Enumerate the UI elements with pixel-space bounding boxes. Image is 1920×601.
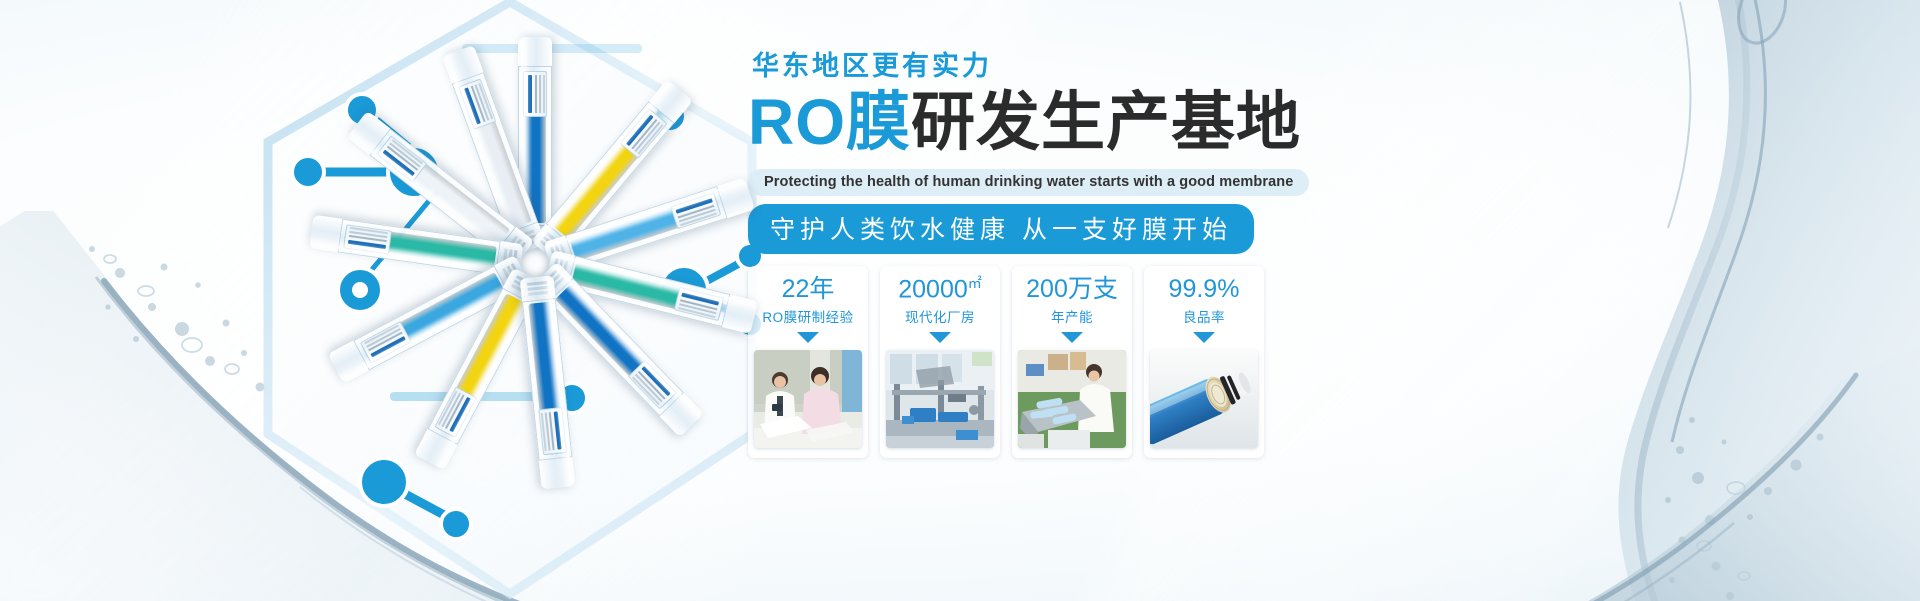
triangle-down-icon <box>929 332 951 343</box>
stat-value: 22年 <box>782 276 835 302</box>
kicker-text: 华东地区更有实力 <box>748 52 1758 82</box>
headline-rest: 研发生产基地 <box>911 86 1301 158</box>
stat-card[interactable]: 200万支年产能 <box>1012 266 1132 459</box>
membrane-element-photo <box>1150 350 1258 448</box>
stat-label: 良品率 <box>1183 306 1225 326</box>
factory-machine-photo <box>886 350 994 448</box>
banner-content: 华东地区更有实力 RO膜研发生产基地 Protecting the health… <box>748 52 1758 458</box>
triangle-down-icon <box>1061 332 1083 343</box>
stat-value: 200万支 <box>1026 276 1118 302</box>
stat-card[interactable]: 22年RO膜研制经验 <box>748 266 868 459</box>
stat-unit: ㎡ <box>968 275 982 291</box>
stat-label: 现代化厂房 <box>905 306 975 326</box>
stat-value: 99.9% <box>1169 276 1240 302</box>
stat-card[interactable]: 20000㎡现代化厂房 <box>880 266 1000 459</box>
lab-workers-photo <box>754 350 862 448</box>
stat-card[interactable]: 99.9%良品率 <box>1144 266 1264 459</box>
page-title: RO膜研发生产基地 <box>748 88 1758 157</box>
membrane-element-photo <box>1150 350 1258 448</box>
stat-card-list: 22年RO膜研制经验 20000㎡现代化厂房 <box>748 266 1758 459</box>
banner-stage: 华东地区更有实力 RO膜研发生产基地 Protecting the health… <box>0 0 1920 601</box>
stat-label: 年产能 <box>1051 306 1093 326</box>
packing-line-photo <box>1018 350 1126 448</box>
packing-line-photo <box>1018 350 1126 448</box>
tagline-chinese: 守护人类饮水健康 从一支好膜开始 <box>748 204 1254 254</box>
lab-workers-photo <box>754 350 862 448</box>
stat-label: RO膜研制经验 <box>762 306 853 326</box>
triangle-down-icon <box>797 332 819 343</box>
triangle-down-icon <box>1193 332 1215 343</box>
product-fan <box>300 28 770 498</box>
factory-machine-photo <box>886 350 994 448</box>
stat-value: 20000㎡ <box>898 276 982 303</box>
tagline-english: Protecting the health of human drinking … <box>748 169 1309 196</box>
headline-highlight: RO膜 <box>748 86 911 158</box>
